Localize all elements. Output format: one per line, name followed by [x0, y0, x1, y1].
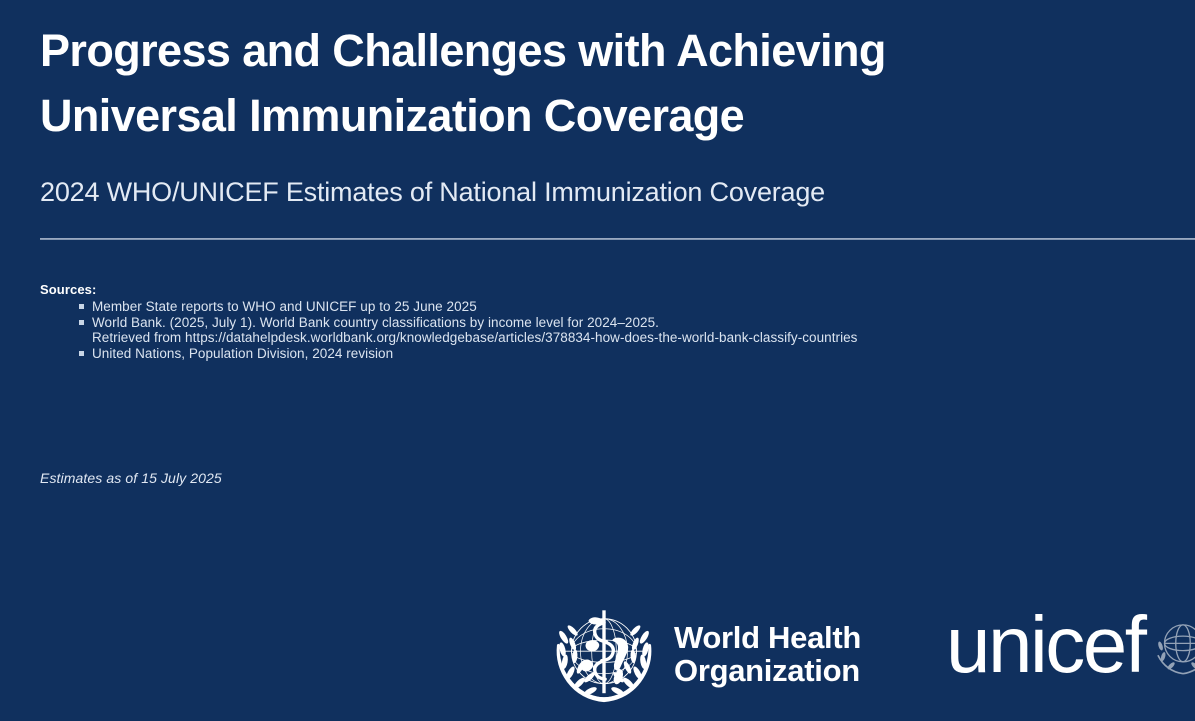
page-title-line-2: Universal Immunization Coverage — [40, 83, 1040, 148]
square-bullet-icon — [79, 320, 84, 325]
header-divider — [40, 238, 1195, 240]
list-item: World Bank. (2025, July 1). World Bank c… — [40, 315, 1140, 346]
page-subtitle: 2024 WHO/UNICEF Estimates of National Im… — [40, 176, 825, 209]
sources-label: Sources: — [40, 282, 1140, 298]
who-wordmark-line-2: Organization — [674, 654, 861, 687]
page-title-line-1: Progress and Challenges with Achieving — [40, 18, 1040, 83]
unicef-logo: unicef — [946, 605, 1195, 685]
page-title: Progress and Challenges with Achieving U… — [40, 18, 1040, 148]
estimates-date-note: Estimates as of 15 July 2025 — [40, 470, 222, 487]
square-bullet-icon — [79, 304, 84, 309]
slide-root: Progress and Challenges with Achieving U… — [0, 0, 1195, 721]
who-emblem-icon — [548, 598, 660, 710]
unicef-emblem-icon — [1150, 613, 1195, 679]
who-logo: World Health Organization — [548, 598, 861, 710]
list-item: Member State reports to WHO and UNICEF u… — [40, 299, 1140, 315]
source-text: United Nations, Population Division, 202… — [92, 346, 393, 361]
unicef-wordmark: unicef — [946, 605, 1144, 685]
who-wordmark: World Health Organization — [674, 621, 861, 687]
square-bullet-icon — [79, 351, 84, 356]
who-wordmark-line-1: World Health — [674, 621, 861, 654]
source-text: World Bank. (2025, July 1). World Bank c… — [92, 315, 659, 330]
sources-list: Member State reports to WHO and UNICEF u… — [40, 299, 1140, 361]
sources-block: Sources: Member State reports to WHO and… — [40, 282, 1140, 361]
list-item: United Nations, Population Division, 202… — [40, 346, 1140, 362]
source-text: Member State reports to WHO and UNICEF u… — [92, 299, 477, 314]
source-text-continuation: Retrieved from https://datahelpdesk.worl… — [92, 330, 1140, 346]
